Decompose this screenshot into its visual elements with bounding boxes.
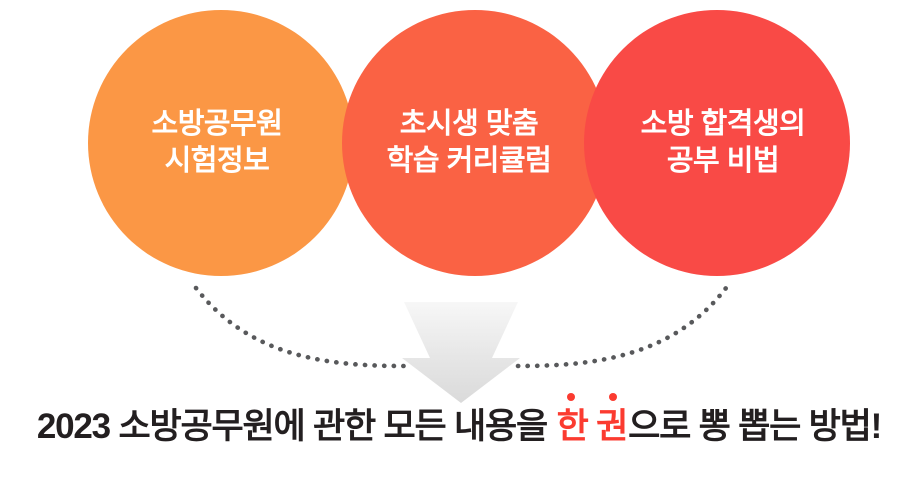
connector-left-dots [196,288,404,366]
caption-prefix: 2023 소방공무원에 관한 모든 내용을 [37,407,556,446]
circle-study-tips-text: 소방 합격생의 공부 비법 [641,106,806,180]
down-arrow-shape [402,302,520,403]
caption-highlight: 한 권 [556,407,629,446]
circle-study-tips[interactable]: 소방 합격생의 공부 비법 [584,10,850,276]
connector-right-dots [518,288,726,366]
circle-study-tips-line-1: 소방 합격생의 [641,106,806,143]
caption-line: 2023 소방공무원에 관한 모든 내용을 한 권으로 뽕 뽑는 방법! [0,398,918,449]
circle-curriculum-line-2: 학습 커리큘럼 [387,143,552,180]
caption-highlight-text: 한 권 [557,407,628,446]
emphasis-dot-2 [609,393,617,401]
circle-curriculum-text: 초시생 맞춤 학습 커리큘럼 [387,106,552,180]
circle-curriculum-line-1: 초시생 맞춤 [387,106,552,143]
emphasis-dot-1 [567,393,575,401]
promo-banner: 소방공무원 시험정보 초시생 맞춤 학습 커리큘럼 소방 합격생의 공부 비법 … [0,0,918,480]
circle-study-tips-line-2: 공부 비법 [641,143,806,180]
circle-curriculum[interactable]: 초시생 맞춤 학습 커리큘럼 [342,10,608,276]
caption-suffix: 으로 뽕 뽑는 방법! [628,407,881,446]
circle-exam-info[interactable]: 소방공무원 시험정보 [88,10,354,276]
down-arrow-icon [396,300,526,405]
circle-exam-info-text: 소방공무원 시험정보 [152,106,283,180]
circle-exam-info-line-2: 시험정보 [152,143,283,180]
circle-exam-info-line-1: 소방공무원 [152,106,283,143]
